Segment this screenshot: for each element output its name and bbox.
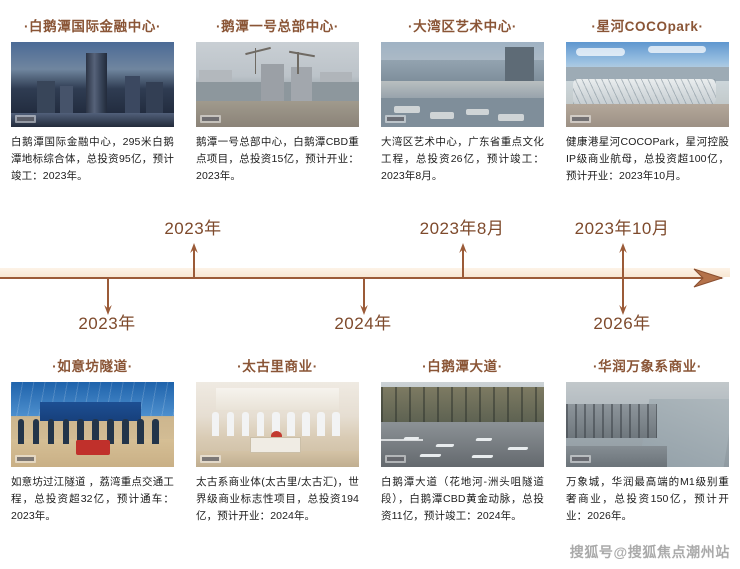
project-card-baietan-avenue[interactable]: ·白鹅潭大道· 白鹅潭大道（花地河-洲头咀隧道段），白鹅潭CBD黄金动脉，总投资… [370, 352, 555, 525]
photo-trees [381, 387, 544, 424]
bottom-project-row: ·如意坊隧道· 如意坊过江隧道 ，荔湾重点交通工程，总投资超32亿，预计通车：2… [0, 352, 740, 569]
project-photo-ruyifang-tunnel [11, 382, 174, 467]
photo-boat [394, 106, 420, 113]
project-photo-baietan-ifc [11, 42, 174, 127]
photo-cloud [648, 46, 707, 53]
project-photo-baietan-avenue [381, 382, 544, 467]
project-title: ·大湾区艺术中心· [381, 20, 544, 34]
arrow-up-icon [618, 243, 628, 254]
project-title: ·鹅潭一号总部中心· [196, 20, 359, 34]
photo-road-marking [508, 447, 529, 450]
project-caption: 大湾区艺术中心，广东省重点文化工程，总投资26亿，预计竣工：2023年8月。 [381, 134, 544, 185]
project-title: ·如意坊隧道· [11, 360, 174, 374]
project-card-taikooli[interactable]: ·太古里商业· 太古系商业体(太古里/太古汇)，世界级商业标志性项目，总投资19… [185, 352, 370, 525]
photo-art [11, 382, 174, 467]
photo-banner [216, 388, 340, 410]
photo-ceremony-plaque [250, 437, 301, 453]
project-caption: 如意坊过江隧道 ，荔湾重点交通工程，总投资超32亿，预计通车：2023年。 [11, 474, 174, 525]
project-title: ·星河COCOpark· [566, 20, 729, 34]
timeline-label-2024: 2024年 [334, 315, 391, 332]
photo-watermark-badge [15, 115, 36, 123]
project-photo-mixc [566, 382, 729, 467]
photo-watermark-badge [200, 115, 221, 123]
project-caption: 太古系商业体(太古里/太古汇)，世界级商业标志性项目，总投资194亿，预计开业：… [196, 474, 359, 525]
photo-cloud [576, 48, 625, 56]
project-caption: 鹅潭一号总部中心，白鹅潭CBD重点项目，总投资15亿，预计开业：2023年。 [196, 134, 359, 185]
photo-boat [498, 114, 524, 121]
photo-boat [466, 109, 489, 116]
photo-ground [196, 101, 359, 127]
photo-art [196, 382, 359, 467]
project-caption: 白鹅潭大道（花地河-洲头咀隧道段），白鹅潭CBD黄金动脉，总投资11亿，预计竣工… [381, 474, 544, 525]
arrow-up-icon [189, 243, 199, 254]
timeline-band [0, 268, 730, 277]
photo-watermark-badge [570, 115, 591, 123]
photo-boat [430, 112, 454, 119]
photo-watermark-badge [385, 455, 406, 463]
project-card-etanyihao[interactable]: ·鹅潭一号总部中心· 鹅潭一号总部中心，白鹅潭CBD重点项目，总投资15亿，预计… [185, 0, 370, 185]
photo-road-marking [436, 444, 455, 447]
project-title: ·白鹅潭大道· [381, 360, 544, 374]
photo-art [566, 382, 729, 467]
timeline-label-2023-above: 2023年 [164, 220, 221, 237]
photo-skyline [566, 404, 657, 438]
photo-road-marking [420, 454, 442, 457]
project-card-ruyifang-tunnel[interactable]: ·如意坊隧道· 如意坊过江隧道 ，荔湾重点交通工程，总投资超32亿，预计通车：2… [0, 352, 185, 525]
photo-crane-jib [289, 51, 315, 57]
timeline-label-2023-below: 2023年 [78, 315, 135, 332]
top-project-row: ·白鹅潭国际金融中心· 白鹅潭国际金融中心，295米白鹅潭地标综合体，总投资95… [0, 0, 740, 215]
photo-ceremony-plinth [76, 440, 110, 454]
photo-mall-lattice [573, 79, 716, 105]
photo-watermark-badge [385, 115, 406, 123]
photo-watermark-badge [200, 455, 221, 463]
photo-stage-screen [40, 402, 141, 421]
photo-quay [381, 81, 544, 98]
photo-landmark-tower [86, 53, 107, 114]
project-card-mixc[interactable]: ·华润万象系商业· 万象城，华润最高端的M1级别重奢商业，总投资150亿，预计开… [555, 352, 740, 525]
timeline-axis [0, 262, 740, 294]
arrow-up-icon [458, 243, 468, 254]
project-title: ·太古里商业· [196, 360, 359, 374]
project-caption: 健康港星河COCOPark，星河控股IP级商业航母，总投资超100亿，预计开业：… [566, 134, 729, 185]
timeline-arrow-right-icon [676, 266, 724, 290]
photo-art [196, 42, 359, 127]
photo-art [381, 382, 544, 467]
project-card-cocopark[interactable]: ·星河COCOpark· 健康港星河COCOPark，星河控股IP级商业航母，总… [555, 0, 740, 185]
project-card-baietan-ifc[interactable]: ·白鹅潭国际金融中心· 白鹅潭国际金融中心，295米白鹅潭地标综合体，总投资95… [0, 0, 185, 185]
infographic-canvas: ·白鹅潭国际金融中心· 白鹅潭国际金融中心，295米白鹅潭地标综合体，总投资95… [0, 0, 740, 569]
project-caption: 白鹅潭国际金融中心，295米白鹅潭地标综合体，总投资95亿，预计竣工：2023年… [11, 134, 174, 185]
photo-crane-jib [245, 47, 271, 55]
project-photo-art-center [381, 42, 544, 127]
timeline-label-2026: 2026年 [593, 315, 650, 332]
project-title: ·华润万象系商业· [566, 360, 729, 374]
photo-road-marking [403, 437, 419, 440]
photo-building [37, 81, 55, 117]
project-caption: 万象城，华润最高端的M1级别重奢商业，总投资150亿，预计开业：2026年。 [566, 474, 729, 525]
photo-building [146, 82, 162, 116]
project-photo-etanyihao [196, 42, 359, 127]
photo-watermark-badge [570, 455, 591, 463]
photo-building [125, 76, 140, 117]
photo-building [60, 86, 73, 117]
photo-art [381, 42, 544, 127]
project-photo-taikooli [196, 382, 359, 467]
photo-art [566, 42, 729, 127]
photo-art [11, 42, 174, 127]
project-card-art-center[interactable]: ·大湾区艺术中心· 大湾区艺术中心，广东省重点文化工程，总投资26亿，预计竣工：… [370, 0, 555, 185]
timeline-label-2023-10: 2023年10月 [575, 220, 670, 237]
project-photo-cocopark [566, 42, 729, 127]
project-title: ·白鹅潭国际金融中心· [11, 20, 174, 34]
photo-crane [297, 52, 299, 74]
source-watermark: 搜狐号@搜狐焦点潮州站 [570, 542, 730, 562]
photo-watermark-badge [15, 455, 36, 463]
timeline-label-2023-08: 2023年8月 [420, 220, 505, 237]
